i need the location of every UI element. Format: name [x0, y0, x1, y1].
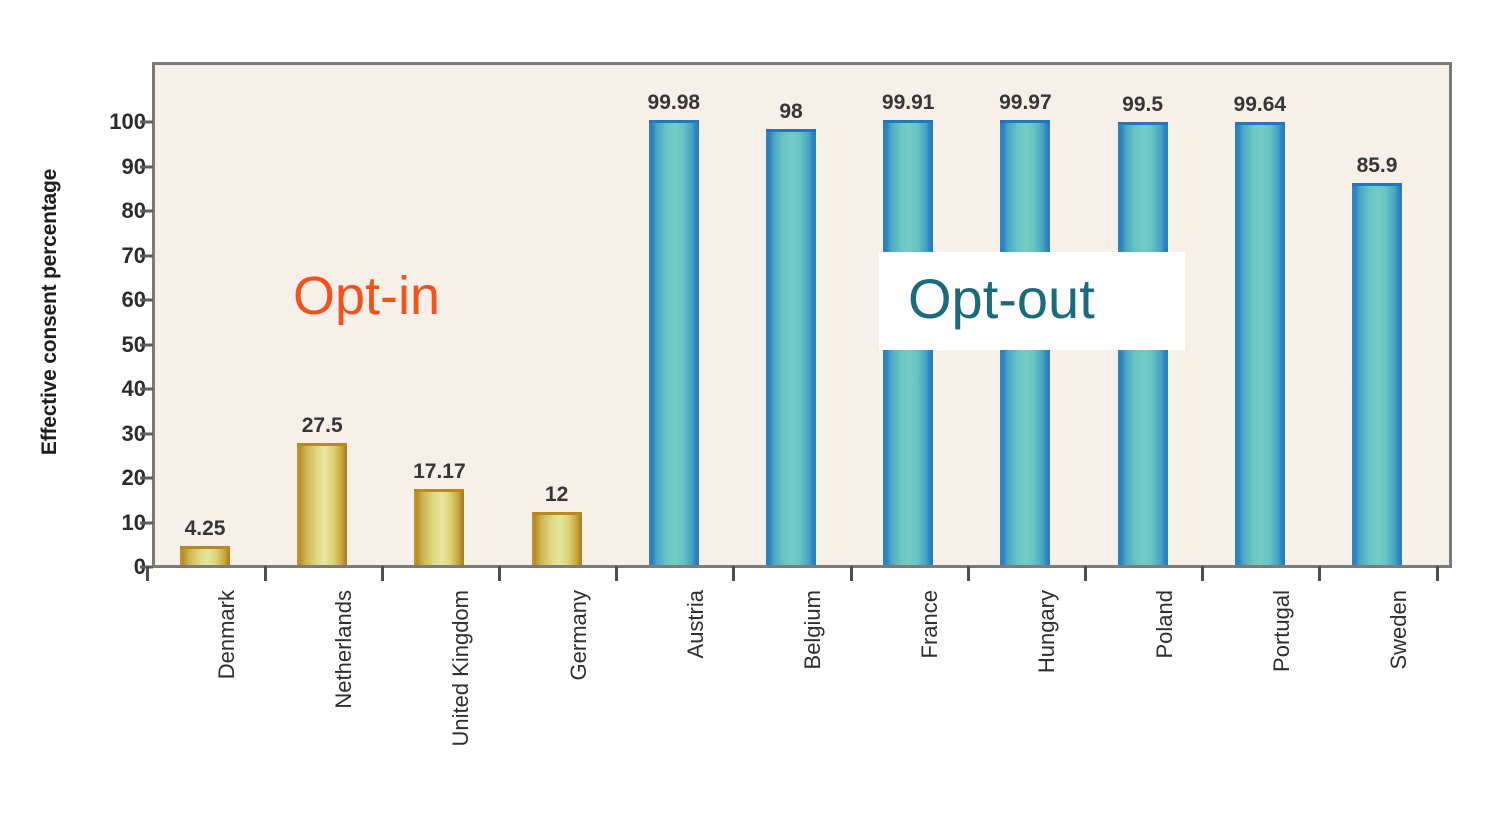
bar-value-label: 98 [731, 100, 851, 124]
x-category-label: Hungary [1034, 590, 1060, 810]
bar [649, 120, 699, 565]
x-category-label: Netherlands [331, 590, 357, 810]
x-tick-mark [381, 566, 384, 581]
x-tick-mark [1084, 566, 1087, 581]
bar-chart: Effective consent percentage 01020304050… [0, 0, 1500, 821]
x-category-label: France [917, 590, 943, 810]
annotation-opt-out: Opt-out [908, 266, 1095, 331]
x-tick-mark [850, 566, 853, 581]
x-tick-mark [146, 566, 149, 581]
x-category-label: Sweden [1386, 590, 1412, 810]
y-tick-label: 60 [0, 287, 146, 313]
y-tick-label: 90 [0, 154, 146, 180]
x-category-label: Denmark [214, 590, 240, 810]
y-tick-label: 100 [0, 109, 146, 135]
bar [414, 489, 464, 565]
bar [1235, 122, 1285, 565]
bar-value-label: 99.64 [1200, 93, 1320, 117]
x-tick-mark [1436, 566, 1439, 581]
y-tick-label: 20 [0, 465, 146, 491]
bar [297, 443, 347, 565]
x-tick-mark [967, 566, 970, 581]
bar-value-label: 99.91 [848, 91, 968, 115]
bar [1352, 183, 1402, 565]
y-tick-label: 80 [0, 198, 146, 224]
bar-value-label: 99.5 [1083, 93, 1203, 117]
y-tick-label: 50 [0, 332, 146, 358]
bar-value-label: 99.98 [614, 91, 734, 115]
annotation-opt-in: Opt-in [293, 265, 440, 327]
y-tick-label: 10 [0, 510, 146, 536]
x-tick-mark [1318, 566, 1321, 581]
bar-value-label: 99.97 [965, 91, 1085, 115]
bar-value-label: 27.5 [262, 414, 382, 438]
bar [532, 512, 582, 565]
y-tick-label: 70 [0, 243, 146, 269]
x-tick-mark [615, 566, 618, 581]
bar [766, 129, 816, 565]
x-category-label: Belgium [800, 590, 826, 810]
y-tick-label: 30 [0, 421, 146, 447]
x-category-label: United Kingdom [448, 590, 474, 810]
bar-value-label: 4.25 [145, 517, 265, 541]
x-category-label: Poland [1152, 590, 1178, 810]
x-category-label: Germany [566, 590, 592, 810]
y-tick-label: 0 [0, 554, 146, 580]
x-tick-mark [264, 566, 267, 581]
y-tick-label: 40 [0, 376, 146, 402]
x-tick-mark [498, 566, 501, 581]
bar-value-label: 12 [497, 483, 617, 507]
x-category-label: Austria [683, 590, 709, 810]
bar-value-label: 17.17 [379, 460, 499, 484]
bar [180, 546, 230, 565]
x-tick-mark [1201, 566, 1204, 581]
bar-value-label: 85.9 [1317, 154, 1437, 178]
x-tick-mark [732, 566, 735, 581]
x-category-label: Portugal [1269, 590, 1295, 810]
